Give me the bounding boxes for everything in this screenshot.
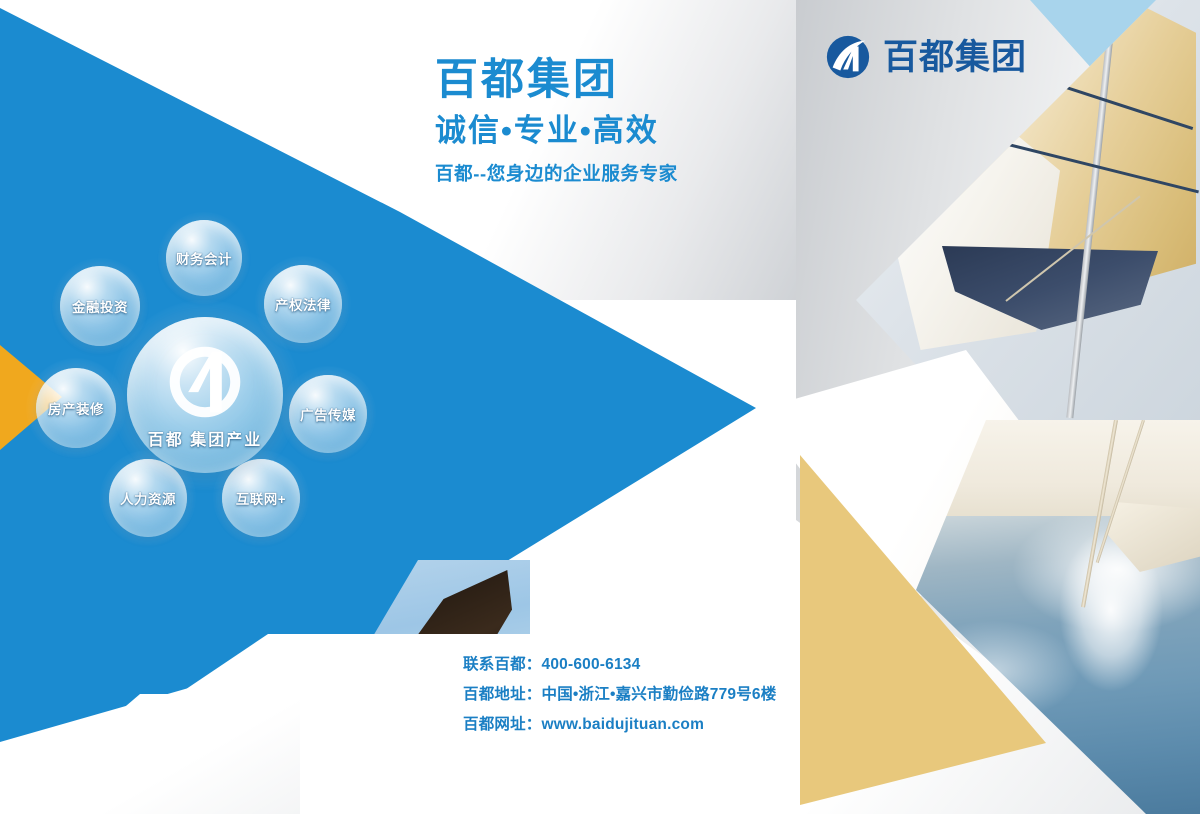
contact-phone-row: 联系百都：400-600-6134 xyxy=(463,650,776,680)
bubble-label: 财务会计 xyxy=(176,248,232,268)
bubble-node-ip-law[interactable]: 产权法律 xyxy=(264,265,342,343)
bubble-node-human-resources[interactable]: 人力资源 xyxy=(109,459,187,537)
center-logo-d-icon xyxy=(163,340,247,424)
contact-website-label: 百都网址： xyxy=(463,716,542,733)
bubble-label: 人力资源 xyxy=(120,488,176,508)
bubble-label: 广告传媒 xyxy=(300,404,356,424)
page-title: 百都集团 xyxy=(435,55,785,106)
bubble-node-property-decoration[interactable]: 房产装修 xyxy=(36,368,116,448)
headline-block: 百都集团 诚信•专业•高效 百都--您身边的企业服务专家 xyxy=(435,55,785,187)
contact-address-value: 中国•浙江•嘉兴市勤俭路779号6楼 xyxy=(542,686,777,703)
bubble-label: 互联网+ xyxy=(236,488,286,508)
bubble-label: 金融投资 xyxy=(72,296,128,316)
contact-address-label: 百都地址： xyxy=(463,686,542,703)
logo-wordmark: 百都集团 xyxy=(883,40,1027,75)
bubble-node-finance-investment[interactable]: 金融投资 xyxy=(60,266,140,346)
right-panel: 百都集团 xyxy=(796,0,1200,814)
contact-address-row: 百都地址：中国•浙江•嘉兴市勤俭路779号6楼 xyxy=(463,680,776,710)
contact-website-value[interactable]: www.baidujituan.com xyxy=(542,716,705,733)
contact-phone-label: 联系百都： xyxy=(463,656,542,673)
contact-website-row: 百都网址：www.baidujituan.com xyxy=(463,710,776,740)
slogan-text: 诚信•专业•高效 xyxy=(435,112,785,151)
tagline-text: 百都--您身边的企业服务专家 xyxy=(435,162,785,186)
brand-logo: 百都集团 xyxy=(824,33,1027,81)
bubble-label: 房产装修 xyxy=(48,398,104,418)
industry-bubble-diagram: 财务会计 产权法律 广告传媒 互联网+ 人力资源 房产装修 金融投资 xyxy=(0,0,420,600)
logo-d-circle-icon xyxy=(824,33,872,81)
left-panel: 财务会计 产权法律 广告传媒 互联网+ 人力资源 房产装修 金融投资 xyxy=(0,0,796,814)
bubble-node-internet-plus[interactable]: 互联网+ xyxy=(222,459,300,537)
bubble-node-finance-accounting[interactable]: 财务会计 xyxy=(166,220,242,296)
contact-phone-value: 400-600-6134 xyxy=(542,656,641,673)
center-bubble-label: 百都 集团产业 xyxy=(148,426,262,450)
contact-block: 联系百都：400-600-6134 百都地址：中国•浙江•嘉兴市勤俭路779号6… xyxy=(463,650,776,741)
bubble-label: 产权法律 xyxy=(275,294,331,314)
bubble-node-advertising-media[interactable]: 广告传媒 xyxy=(289,375,367,453)
bubble-center-group-industries[interactable]: 百都 集团产业 xyxy=(127,317,283,473)
brochure-page: 财务会计 产权法律 广告传媒 互联网+ 人力资源 房产装修 金融投资 xyxy=(0,0,1200,814)
